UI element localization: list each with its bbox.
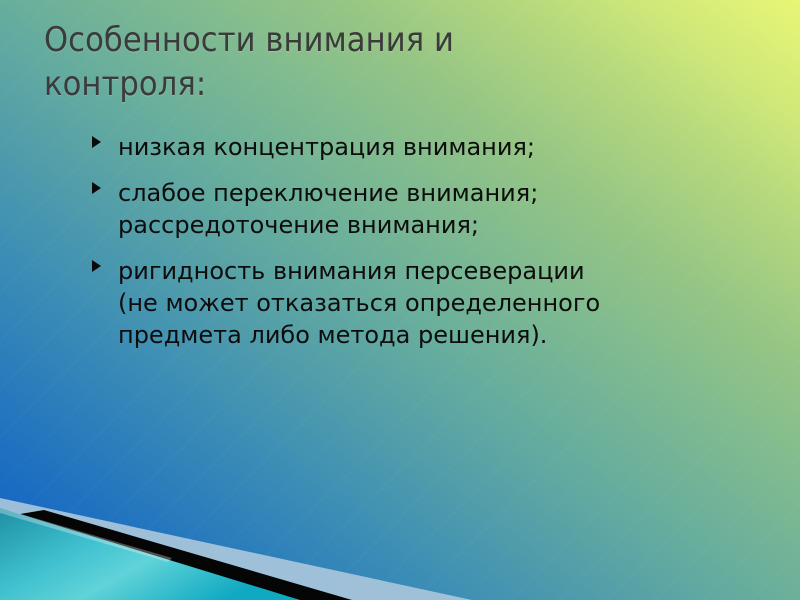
list-item: слабое переключение внимания; рассредото… — [90, 178, 750, 242]
list-item: ригидность внимания персеверации (не мож… — [90, 256, 750, 352]
triangle-right-bullet-icon — [92, 260, 101, 272]
triangle-right-bullet-icon — [92, 182, 101, 194]
presentation-slide: Особенности внимания и контроля: низкая … — [0, 0, 800, 600]
list-item: низкая концентрация внимания; — [90, 132, 750, 164]
list-item-text: ригидность внимания персеверации (не мож… — [118, 256, 750, 352]
slide-title: Особенности внимания и контроля: — [44, 18, 734, 106]
list-item-text: низкая концентрация внимания; — [118, 132, 750, 164]
triangle-right-bullet-icon — [92, 136, 101, 148]
list-item-text: слабое переключение внимания; рассредото… — [118, 178, 750, 242]
slide-bullet-list: низкая концентрация внимания; слабое пер… — [90, 132, 750, 365]
